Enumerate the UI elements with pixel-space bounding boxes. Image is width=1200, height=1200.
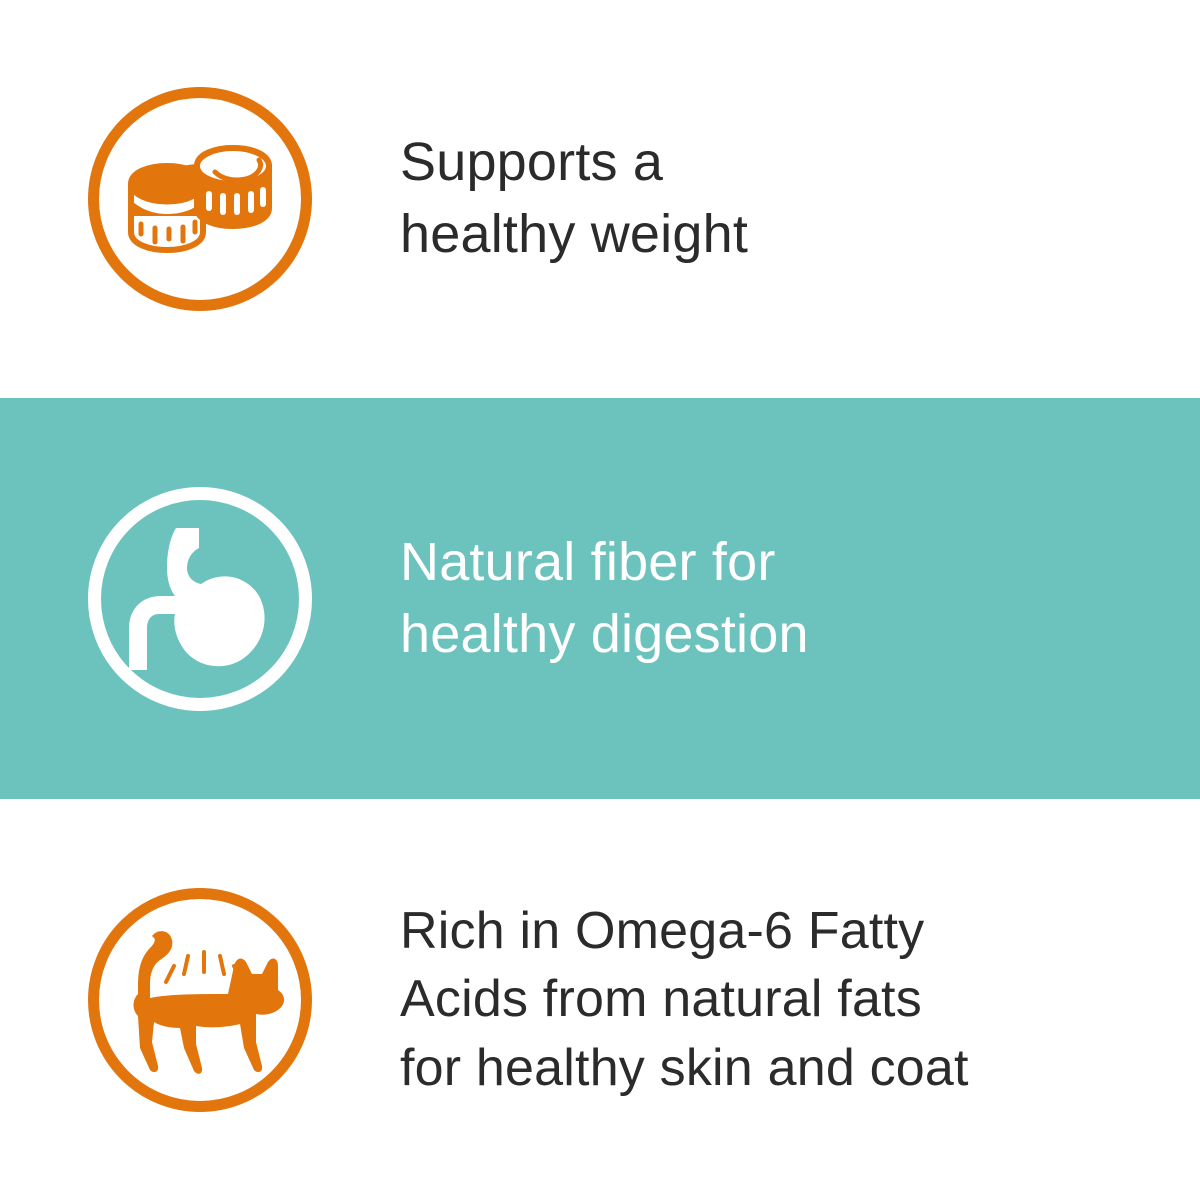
- icon-circle-orange: [88, 888, 312, 1112]
- text-cell-skin-and-coat: Rich in Omega-6 Fatty Acids from natural…: [400, 897, 1200, 1103]
- cat-icon: [112, 924, 288, 1076]
- benefit-text-healthy-weight: Supports a healthy weight: [400, 127, 1160, 271]
- measuring-tape-icon: [119, 138, 281, 260]
- benefit-text-skin-and-coat: Rich in Omega-6 Fatty Acids from natural…: [400, 897, 1160, 1103]
- benefits-infographic: Supports a healthy weight Natural fiber …: [0, 0, 1200, 1200]
- benefit-row-healthy-digestion: Natural fiber for healthy digestion: [0, 398, 1200, 799]
- icon-circle-orange: [88, 87, 312, 311]
- text-cell-healthy-digestion: Natural fiber for healthy digestion: [400, 527, 1200, 671]
- icon-cell-healthy-digestion: [0, 487, 400, 711]
- benefit-text-healthy-digestion: Natural fiber for healthy digestion: [400, 527, 1160, 671]
- icon-cell-healthy-weight: [0, 87, 400, 311]
- benefit-row-healthy-weight: Supports a healthy weight: [0, 0, 1200, 398]
- icon-circle-white: [88, 487, 312, 711]
- text-cell-healthy-weight: Supports a healthy weight: [400, 127, 1200, 271]
- icon-cell-skin-and-coat: [0, 888, 400, 1112]
- stomach-icon: [129, 526, 271, 672]
- benefit-row-skin-and-coat: Rich in Omega-6 Fatty Acids from natural…: [0, 799, 1200, 1200]
- shine-lines: [166, 952, 242, 982]
